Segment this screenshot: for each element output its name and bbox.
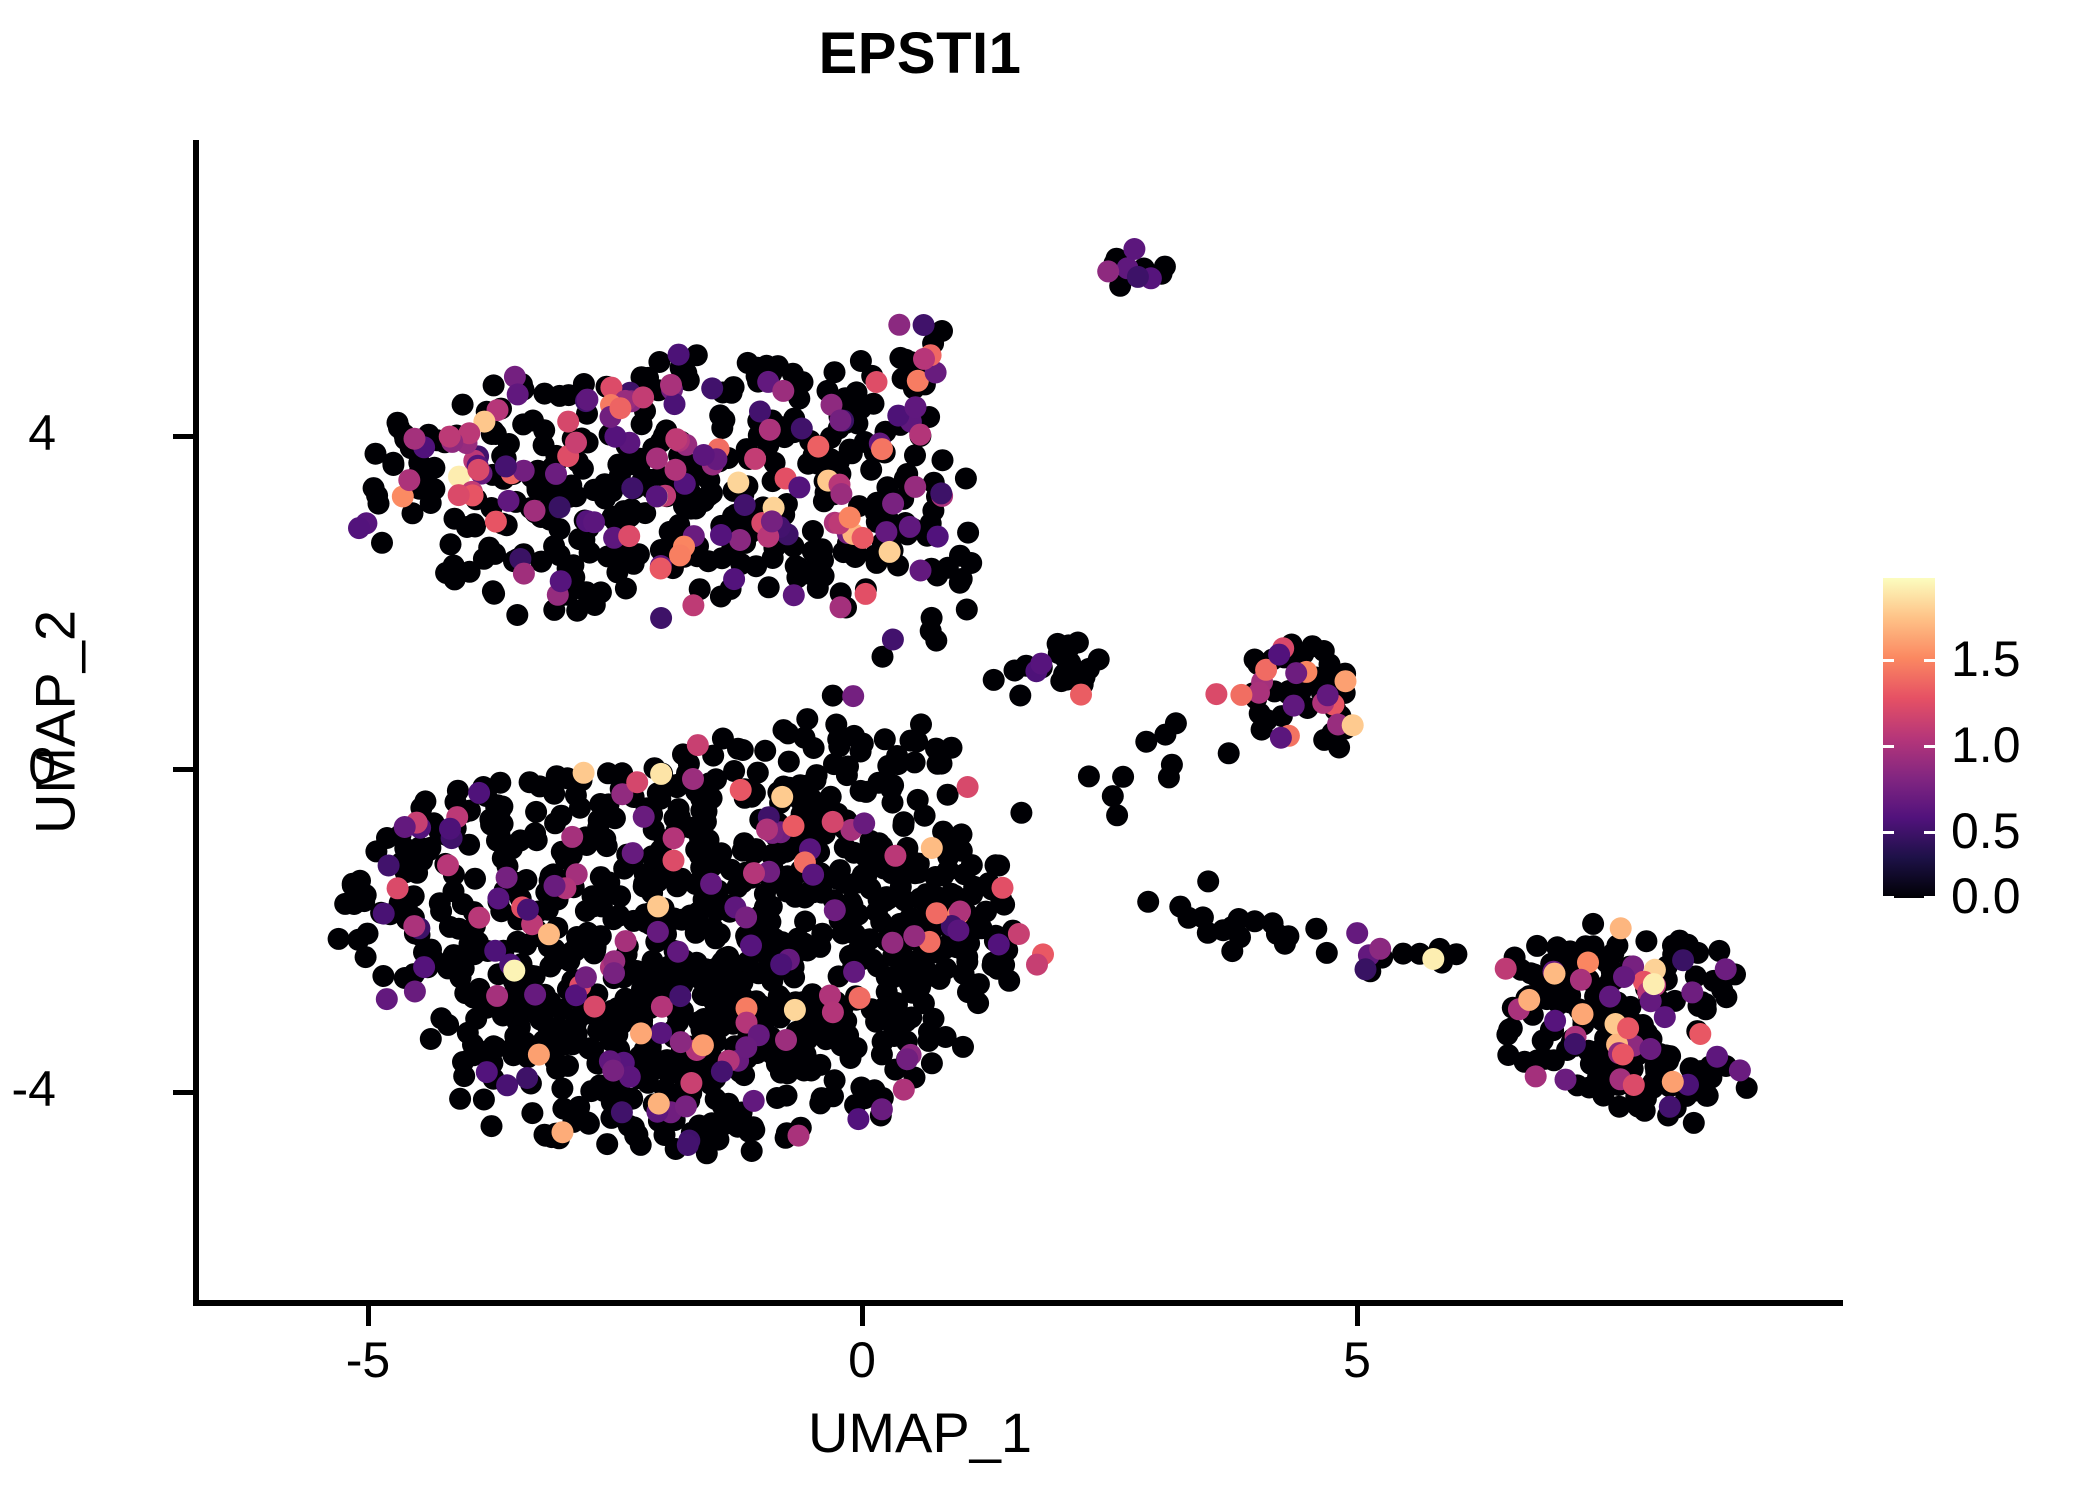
y-tick-label--4: -4 xyxy=(12,1060,56,1118)
y-axis-title: UMAP_2 xyxy=(23,610,88,834)
colorbar-gradient xyxy=(1883,578,1935,898)
x-axis-title: UMAP_1 xyxy=(0,1400,1840,1465)
colorbar-tick-right-1_0 xyxy=(1924,745,1935,748)
x-tick-mark--5 xyxy=(366,1306,371,1326)
colorbar-tick-right-0_0 xyxy=(1924,896,1935,899)
y-axis-line xyxy=(193,140,199,1306)
x-tick-mark-0 xyxy=(860,1306,865,1326)
colorbar-tick-left-1_5 xyxy=(1883,659,1894,662)
colorbar-tick-left-0_5 xyxy=(1883,831,1894,834)
x-tick-label-0: 0 xyxy=(848,1331,876,1389)
x-axis-line xyxy=(193,1300,1843,1306)
y-tick-mark-0 xyxy=(173,767,193,772)
colorbar-label-0_0: 0.0 xyxy=(1951,867,2021,925)
plot-panel xyxy=(196,140,1840,1300)
x-tick-mark-5 xyxy=(1355,1306,1360,1326)
umap-feature-plot: EPSTI1 4 0 -4 -5 0 5 UMAP_1 UMAP_2 1.5 1… xyxy=(0,0,2100,1500)
colorbar-legend: 1.5 1.0 0.5 0.0 xyxy=(1883,578,2073,898)
x-tick-label-5: 5 xyxy=(1343,1331,1371,1389)
page-title: EPSTI1 xyxy=(0,20,1840,87)
x-tick-label--5: -5 xyxy=(346,1331,390,1389)
colorbar-label-1_0: 1.0 xyxy=(1951,716,2021,774)
colorbar-tick-left-1_0 xyxy=(1883,745,1894,748)
y-tick-mark--4 xyxy=(173,1090,193,1095)
colorbar-label-1_5: 1.5 xyxy=(1951,630,2021,688)
colorbar-tick-left-0_0 xyxy=(1883,896,1894,899)
y-tick-mark-4 xyxy=(173,434,193,439)
colorbar-tick-right-1_5 xyxy=(1924,659,1935,662)
y-tick-label-4: 4 xyxy=(28,404,56,462)
colorbar-tick-right-0_5 xyxy=(1924,831,1935,834)
scatter-points-layer xyxy=(196,140,1840,1300)
colorbar-label-0_5: 0.5 xyxy=(1951,802,2021,860)
